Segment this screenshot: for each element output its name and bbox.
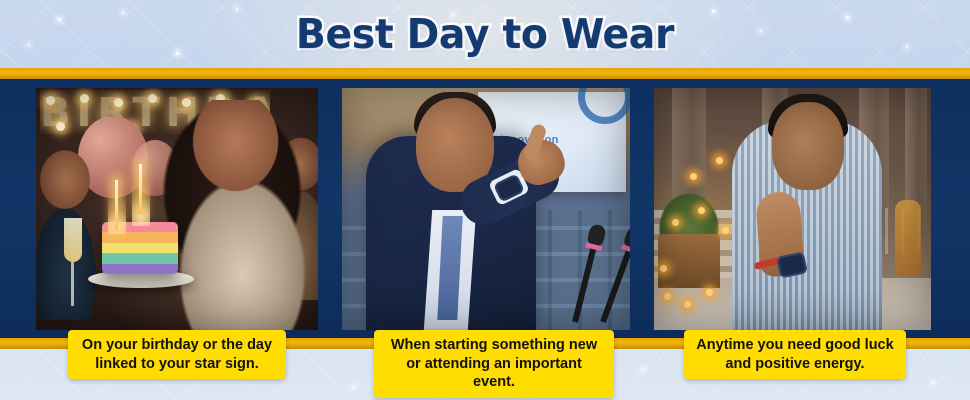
background-devotee	[895, 200, 921, 276]
birthday-celebration-photo: BIRTHDAY	[36, 88, 318, 330]
woman-with-cake	[154, 100, 318, 330]
tulsi-shrine	[658, 234, 720, 288]
screen-circle-graphic	[578, 88, 630, 124]
caption-birthday: On your birthday or the day linked to yo…	[68, 330, 286, 379]
champagne-flute	[62, 218, 84, 312]
sparkler-candle	[132, 164, 150, 226]
best-day-to-wear-banner: Best Day to Wear BIRTHDAY	[0, 0, 970, 400]
card-good-luck-image	[654, 88, 931, 330]
card-birthday-image: BIRTHDAY	[36, 88, 318, 330]
page-title: Best Day to Wear	[296, 10, 674, 58]
praying-boy-head	[772, 102, 844, 190]
caption-new-beginnings: When starting something new or attending…	[374, 330, 614, 398]
conference-speaker-photo: Innovation	[342, 88, 630, 330]
banner-title-area: Best Day to Wear	[0, 0, 970, 68]
temple-prayer-photo	[654, 88, 931, 330]
card-new-beginnings-image: Innovation	[342, 88, 630, 330]
caption-good-luck: Anytime you need good luck and positive …	[684, 330, 906, 379]
sparkler-candle	[108, 180, 126, 234]
gold-rule-top	[0, 68, 970, 79]
